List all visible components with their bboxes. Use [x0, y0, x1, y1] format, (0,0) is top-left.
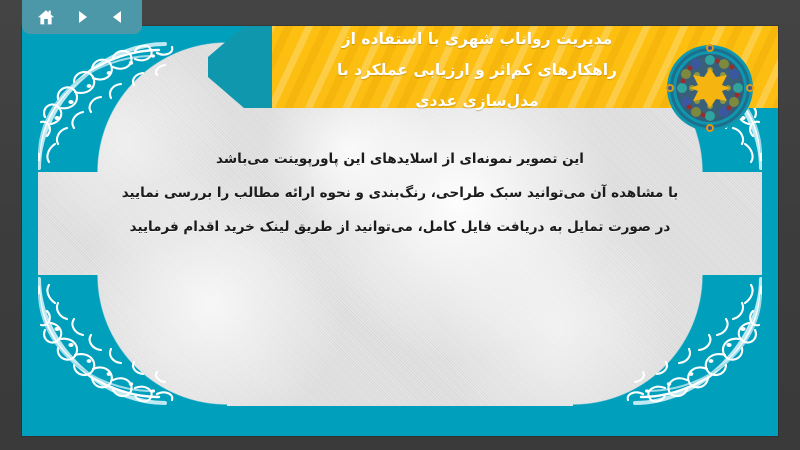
forward-arrow-icon — [74, 9, 90, 25]
viewer-stage: مدیریت رواناب شهری با استفاده از راهکاره… — [0, 0, 800, 450]
body-line-2: با مشاهده آن می‌توانید سبک طراحی، رنگ‌بن… — [46, 176, 754, 210]
back-arrow-icon — [110, 9, 126, 25]
slide-title-line-3: مدل‌سازی عددی — [272, 86, 682, 117]
slide-canvas: مدیریت رواناب شهری با استفاده از راهکاره… — [22, 26, 778, 436]
home-button[interactable] — [31, 4, 61, 30]
body-line-3: در صورت تمایل به دریافت فایل کامل، می‌تو… — [46, 210, 754, 244]
back-button[interactable] — [103, 4, 133, 30]
slide-title-line-2: راهکارهای کم‌اثر و ارزیابی عملکرد با — [272, 55, 682, 86]
corner-curve-bottom-right — [573, 275, 762, 406]
slide-title: مدیریت رواناب شهری با استفاده از راهکاره… — [272, 26, 682, 117]
slide-title-line-1: مدیریت رواناب شهری با استفاده از — [272, 26, 682, 55]
home-icon — [37, 9, 55, 26]
corner-curve-bottom-left — [38, 275, 227, 406]
body-line-1: این تصویر نمونه‌ای از اسلایدهای این پاور… — [46, 142, 754, 176]
slide-body-text: این تصویر نمونه‌ای از اسلایدهای این پاور… — [46, 142, 754, 244]
persian-medallion-icon — [666, 44, 754, 132]
arabesque-ornament-bottom-right — [573, 275, 762, 406]
arabesque-ornament-bottom-left — [38, 275, 227, 406]
navigation-bar — [22, 0, 142, 34]
forward-button[interactable] — [67, 4, 97, 30]
